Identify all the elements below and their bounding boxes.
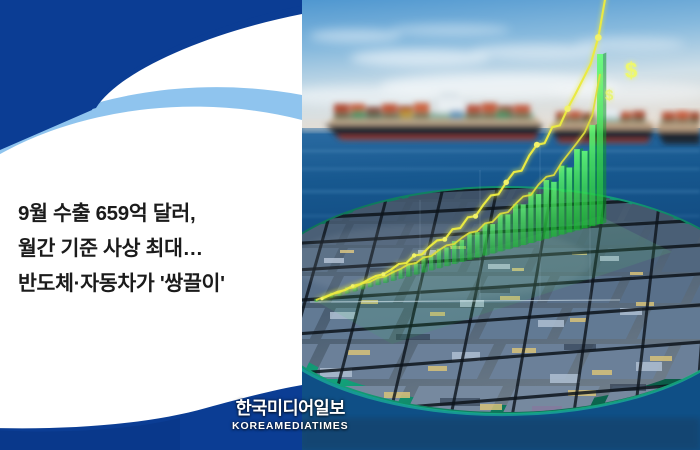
chart-bar-side bbox=[510, 213, 513, 249]
headline-panel: 9월 수출 659억 달러, 월간 기준 사상 최대… 반도체·자동차가 '쌍끌… bbox=[0, 0, 302, 450]
chart-bar bbox=[597, 54, 603, 224]
trend-line-marker bbox=[503, 180, 509, 186]
chart-bar-side bbox=[418, 261, 420, 275]
top-blue-wedge-fill bbox=[0, 0, 302, 150]
dollar-icon-large: $ bbox=[625, 58, 637, 83]
trend-line-marker bbox=[381, 272, 385, 276]
chart-bar-side bbox=[441, 248, 443, 269]
chart-bar bbox=[574, 149, 580, 230]
page-title: 9월 수출 659억 달러, 월간 기준 사상 최대… 반도체·자동차가 '쌍끌… bbox=[18, 196, 290, 301]
chart-bar-side bbox=[495, 223, 498, 254]
chart-bar bbox=[498, 214, 503, 251]
site-logo[interactable]: 한국미디어일보 KOREAMEDIATIMES bbox=[232, 400, 349, 431]
chart-bar-side bbox=[449, 246, 451, 266]
trend-line-marker bbox=[442, 237, 447, 242]
chart-bar-side bbox=[464, 239, 467, 262]
chart-bar bbox=[559, 166, 565, 235]
chart-bar-side bbox=[472, 232, 475, 260]
chart-bar bbox=[521, 204, 526, 245]
container-ship-3 bbox=[656, 111, 700, 144]
bottom-blue-swoosh-shade bbox=[0, 418, 180, 450]
trend-line-marker bbox=[564, 106, 570, 112]
chart-bar bbox=[544, 180, 549, 239]
headline-line-2: 월간 기준 사상 최대… bbox=[18, 231, 290, 266]
chart-bar-side bbox=[518, 203, 521, 247]
chart-bar bbox=[528, 192, 533, 243]
logo-korean-text: 한국미디어일보 bbox=[232, 400, 349, 418]
chart-bar-side bbox=[603, 53, 606, 225]
chart-bar bbox=[566, 167, 572, 232]
chart-bar bbox=[482, 224, 487, 256]
trend-line-marker bbox=[473, 214, 478, 219]
headline-line-1: 9월 수출 659억 달러, bbox=[18, 196, 290, 231]
chart-bar-side bbox=[526, 203, 529, 245]
chart-bar bbox=[505, 214, 510, 249]
hero-photo: $ $ bbox=[300, 0, 700, 450]
trend-line-marker bbox=[595, 34, 602, 41]
chart-bar-side bbox=[503, 213, 506, 251]
trend-line-marker bbox=[534, 142, 540, 148]
chart-bar-side bbox=[456, 240, 458, 264]
trend-line-marker bbox=[351, 284, 355, 288]
chart-bar bbox=[475, 232, 480, 258]
chart-bar bbox=[490, 224, 495, 253]
foreground-shadow bbox=[300, 418, 700, 450]
logo-english-text: KOREAMEDIATIMES bbox=[232, 421, 349, 432]
chart-bar bbox=[444, 248, 448, 267]
trend-line-marker bbox=[320, 297, 323, 300]
chart-bar bbox=[513, 204, 518, 247]
news-card: $ $ 9월 수출 659억 달러, 월간 기준 사상 최대… 반도체·자동차가… bbox=[0, 0, 700, 450]
chart-bar bbox=[536, 194, 541, 241]
chart-bar-side bbox=[433, 254, 435, 271]
chart-bar bbox=[460, 240, 465, 262]
photo-illustration: $ $ bbox=[300, 0, 700, 450]
chart-bar bbox=[551, 182, 557, 237]
chart-bar-side bbox=[480, 231, 483, 258]
chart-bar-side bbox=[402, 268, 404, 279]
headline-line-3: 반도체·자동차가 '쌍끌이' bbox=[18, 266, 290, 301]
chart-bar bbox=[582, 151, 588, 228]
trend-line-marker bbox=[412, 253, 416, 257]
chart-bar bbox=[467, 233, 472, 259]
chart-bar-side bbox=[487, 223, 490, 256]
top-blue-wedge bbox=[0, 0, 302, 148]
dollar-icon-small: $ bbox=[605, 87, 614, 104]
chart-bar bbox=[589, 125, 595, 226]
